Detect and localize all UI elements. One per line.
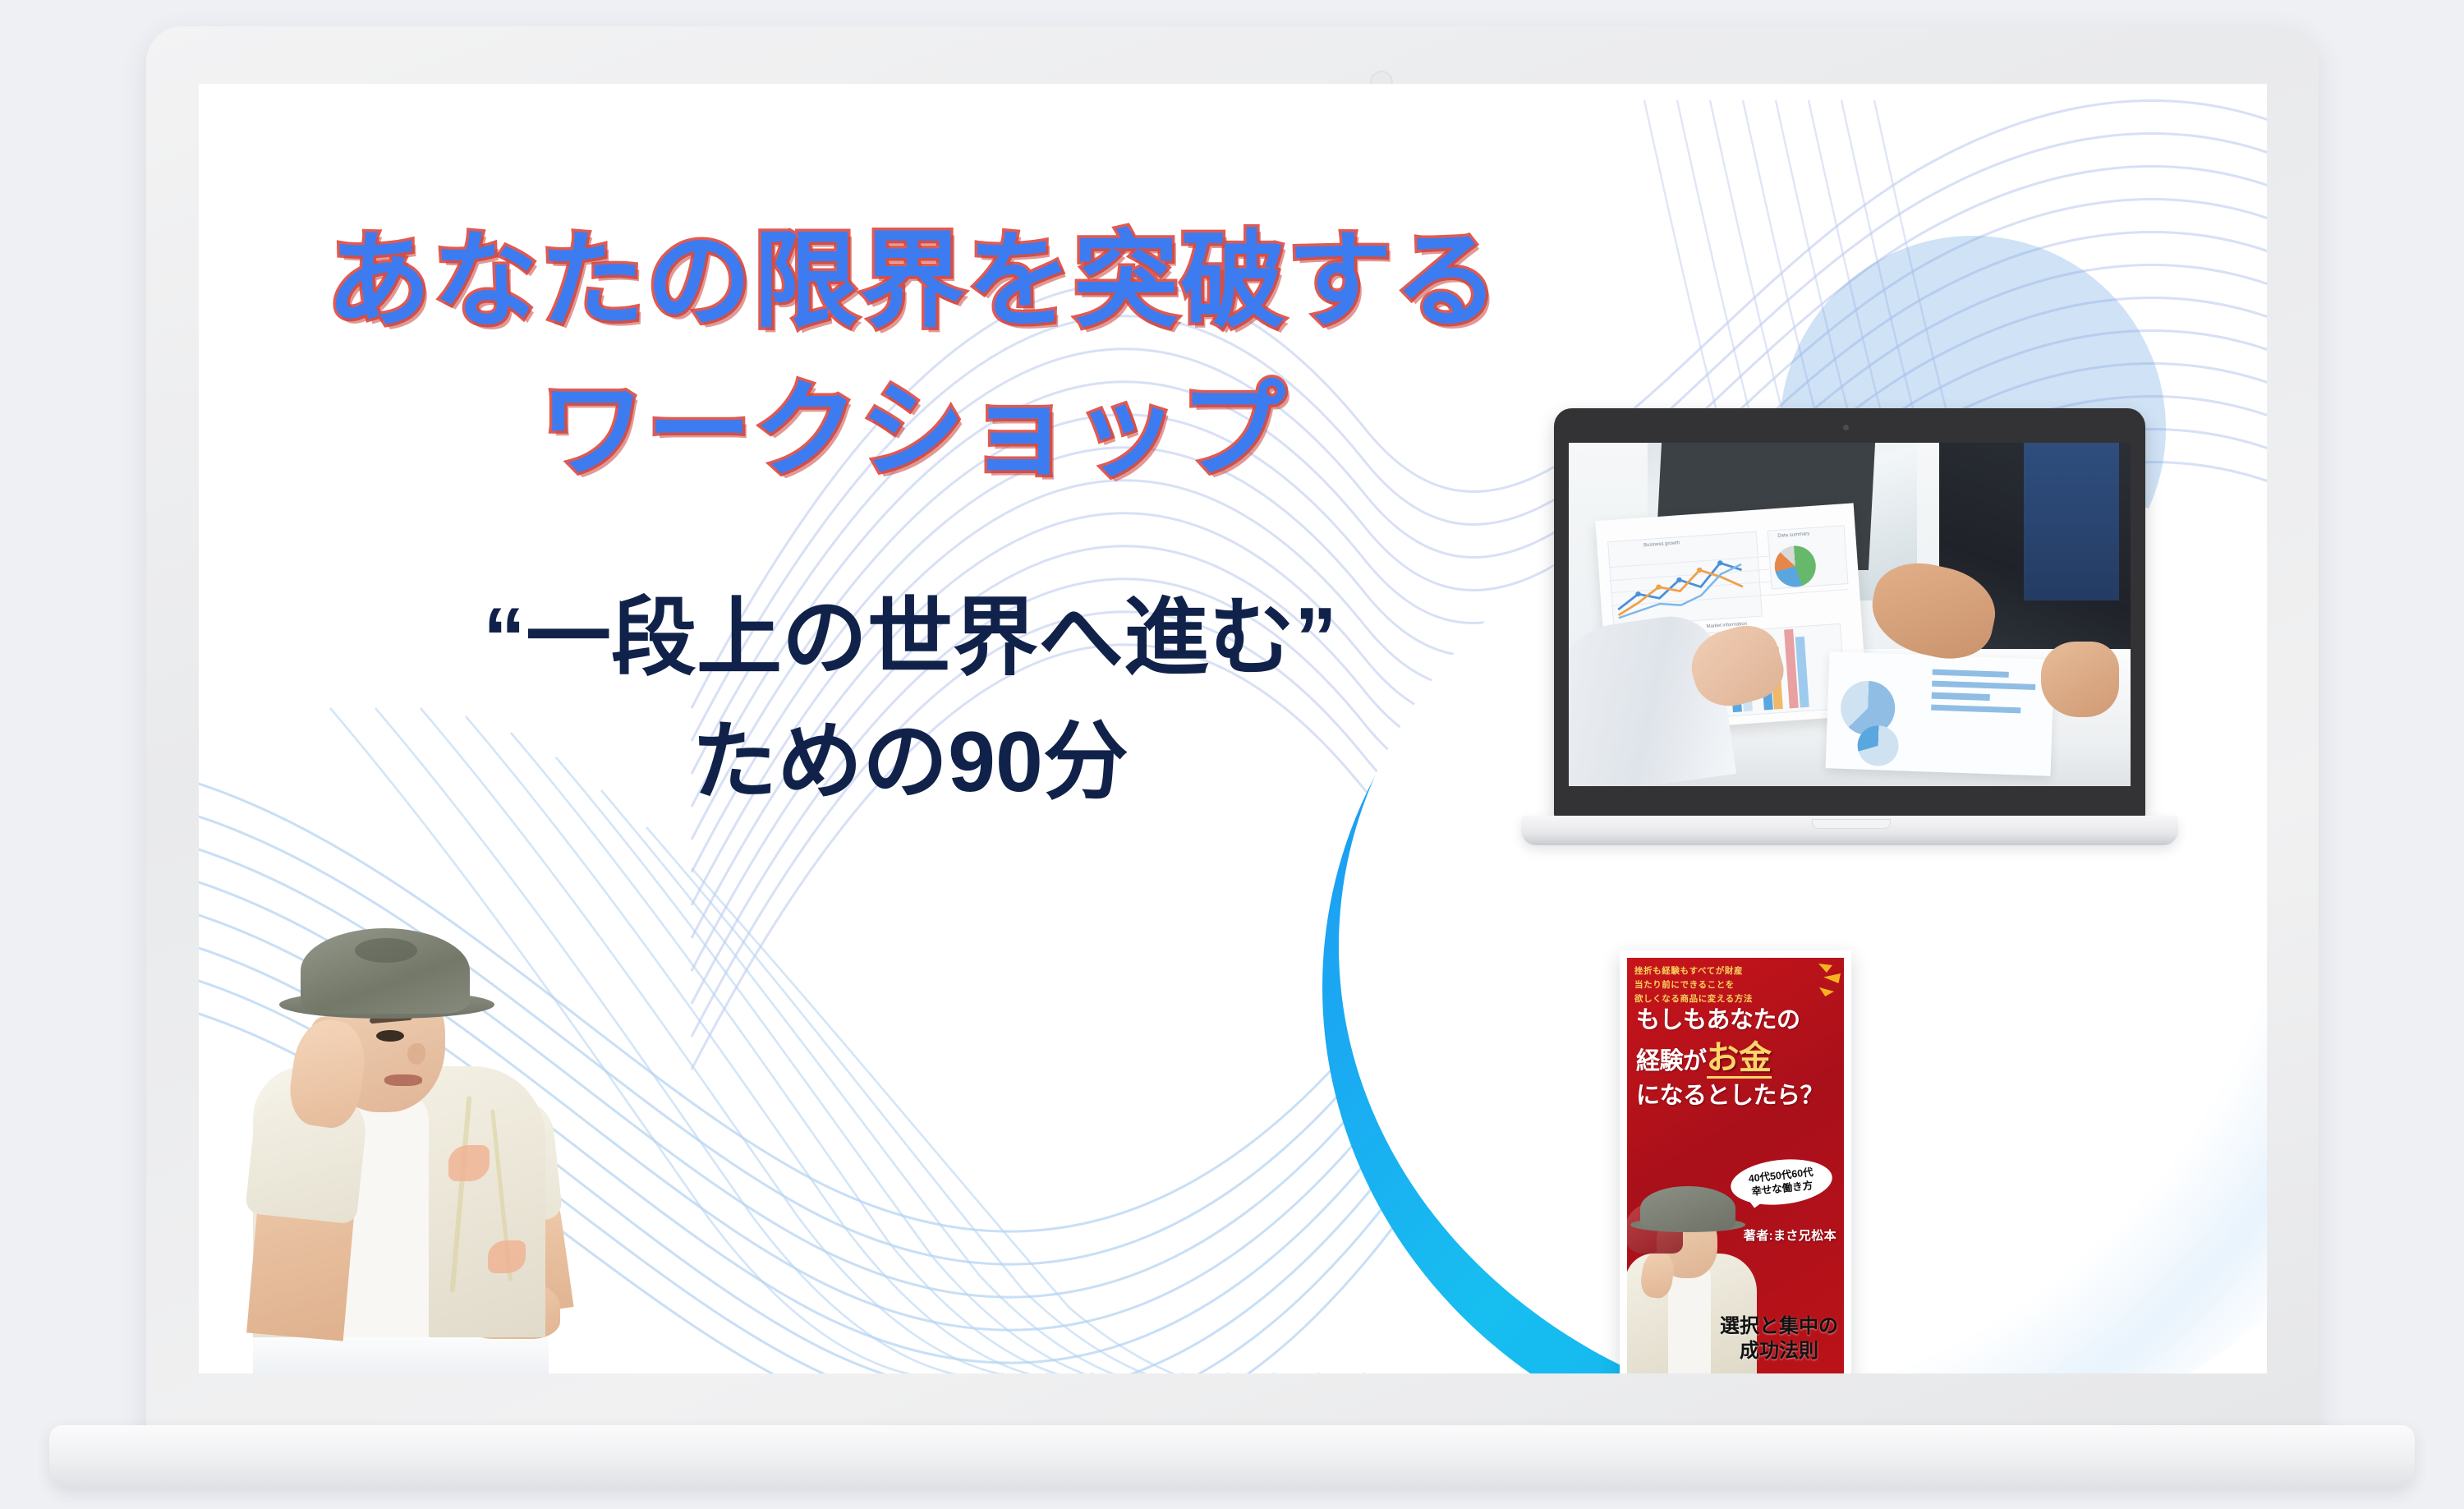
- slide-subheadline: “一段上の世界へ進む” ための90分: [269, 577, 1551, 825]
- book-author-credit: 著者:まさ兄松本: [1744, 1226, 1837, 1244]
- inner-webcam-icon: [1843, 425, 1849, 430]
- inner-laptop-graphic: Business growth Data s: [1521, 408, 2178, 864]
- book-top-copy: 挫折も経験もすべてが財産 当たり前にできることを 欲しくなる商品に変える方法: [1634, 964, 1791, 1006]
- photo-table-document: [1825, 651, 2053, 776]
- book-title-line3: になるとしたら？: [1636, 1083, 1823, 1109]
- laptop-mockup-base: [49, 1425, 2415, 1489]
- inner-laptop-lid: Business growth Data s: [1554, 408, 2145, 819]
- burst-shape-icon: [1819, 987, 1834, 996]
- slide-canvas: あなたの限界を突破する ワークショップ “一段上の世界へ進む” ための90分 B: [199, 84, 2267, 1373]
- book-title-line2-pre: 経験が: [1636, 1048, 1707, 1074]
- slide-headline: あなたの限界を突破する ワークショップ: [273, 207, 1554, 506]
- book-cover[interactable]: 挫折も経験もすべてが財産 当たり前にできることを 欲しくなる商品に変える方法 も…: [1620, 950, 1851, 1373]
- book-cover-art: 挫折も経験もすべてが財産 当たり前にできることを 欲しくなる商品に変える方法 も…: [1627, 958, 1844, 1373]
- book-title-gold-word: お金: [1707, 1040, 1772, 1079]
- burst-shape-icon: [1818, 964, 1832, 973]
- inner-laptop-screen: Business growth Data s: [1569, 443, 2131, 786]
- book-bottom-text: 選択と集中の 成功法則: [1706, 1314, 1844, 1364]
- burst-shape-icon: [1823, 973, 1841, 983]
- book-title-line1: もしもあなたの: [1636, 1007, 1800, 1033]
- page-root: あなたの限界を突破する ワークショップ “一段上の世界へ進む” ための90分 B: [0, 0, 2464, 1509]
- book-title: もしもあなたの 経験がお金 になるとしたら？: [1636, 1005, 1840, 1112]
- inner-laptop-trackpad-notch: [1812, 819, 1891, 829]
- presenter-photo: [232, 876, 577, 1373]
